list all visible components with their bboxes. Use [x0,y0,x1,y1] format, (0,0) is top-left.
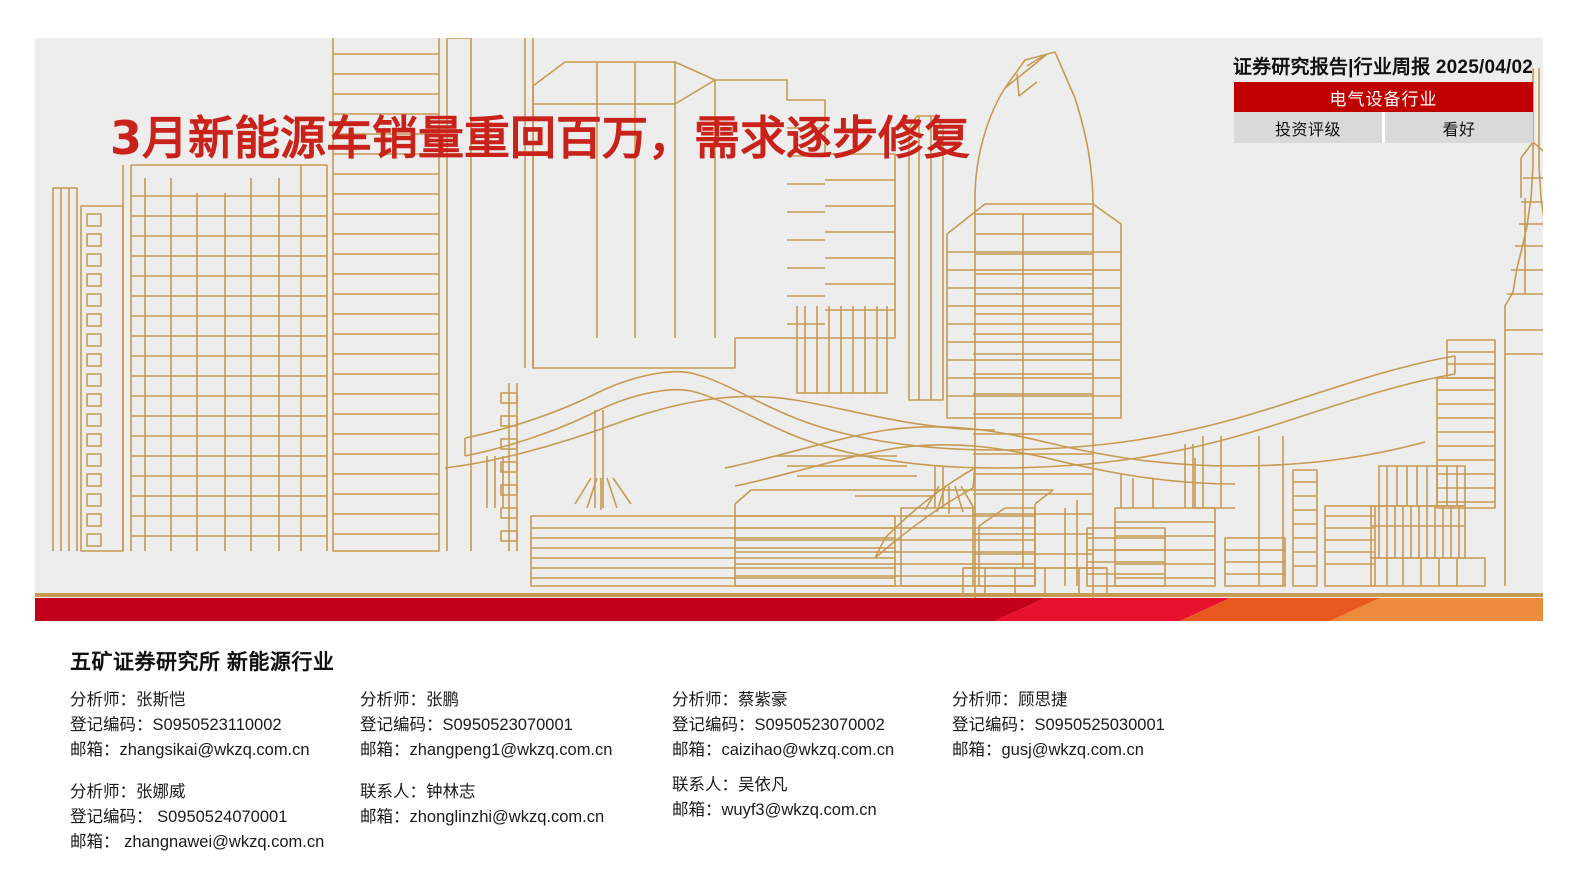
contact-person-email[interactable]: 邮箱：zhonglinzhi@wkzq.com.cn [360,805,604,830]
band-segment-1 [35,598,1045,621]
report-header-line: 证券研究报告|行业周报 2025/04/02 [1233,52,1533,79]
analyst-license: 登记编码： S0950524070001 [70,805,324,830]
contact-person-email[interactable]: 邮箱：wuyf3@wkzq.com.cn [672,798,877,823]
industry-badge: 电气设备行业 [1234,82,1533,112]
contact-person-name: 联系人：钟林志 [360,780,604,805]
rating-table-head-row: 电气设备行业 [1234,82,1533,112]
analyst-name: 分析师：蔡紫豪 [672,688,894,713]
institute-title: 五矿证券研究所 新能源行业 [70,646,334,676]
accent-color-band [35,598,1543,621]
page-title: 3月新能源车销量重回百万，需求逐步修复 [110,102,970,168]
analyst-email[interactable]: 邮箱：zhangpeng1@wkzq.com.cn [360,738,612,763]
analyst-name: 分析师：顾思捷 [952,688,1165,713]
analyst-email[interactable]: 邮箱：zhangsikai@wkzq.com.cn [70,738,310,763]
analyst-column-3-row-1: 分析师：蔡紫豪 登记编码：S0950523070002 邮箱：caizihao@… [672,688,894,763]
analyst-column-2-row-1: 分析师：张鹏 登记编码：S0950523070001 邮箱：zhangpeng1… [360,688,612,763]
analyst-license: 登记编码：S0950523070002 [672,713,894,738]
rating-table-value-row: 投资评级 看好 [1234,112,1533,143]
analyst-license: 登记编码：S0950525030001 [952,713,1165,738]
analyst-column-2-row-2: 联系人：钟林志 邮箱：zhonglinzhi@wkzq.com.cn [360,780,604,830]
contact-section: 五矿证券研究所 新能源行业 分析师：张斯恺 登记编码：S095052311000… [0,640,1583,890]
report-cover-page: 证券研究报告|行业周报 2025/04/02 电气设备行业 投资评级 看好 3月… [0,0,1583,890]
rating-value: 看好 [1384,112,1534,143]
analyst-name: 分析师：张斯恺 [70,688,310,713]
contact-person-name: 联系人：吴依凡 [672,773,877,798]
analyst-name: 分析师：张鹏 [360,688,612,713]
analyst-name: 分析师：张娜威 [70,780,324,805]
investment-rating-table: 电气设备行业 投资评级 看好 [1234,82,1533,143]
analyst-license: 登记编码：S0950523110002 [70,713,310,738]
analyst-column-1-row-2: 分析师：张娜威 登记编码： S0950524070001 邮箱： zhangna… [70,780,324,855]
analyst-email[interactable]: 邮箱：caizihao@wkzq.com.cn [672,738,894,763]
analyst-email[interactable]: 邮箱：gusj@wkzq.com.cn [952,738,1165,763]
analyst-column-4-row-1: 分析师：顾思捷 登记编码：S0950525030001 邮箱：gusj@wkzq… [952,688,1165,763]
analyst-license: 登记编码：S0950523070001 [360,713,612,738]
analyst-column-1-row-1: 分析师：张斯恺 登记编码：S0950523110002 邮箱：zhangsika… [70,688,310,763]
rating-label: 投资评级 [1234,112,1384,143]
analyst-email[interactable]: 邮箱： zhangnawei@wkzq.com.cn [70,830,324,855]
analyst-column-3-row-2: 联系人：吴依凡 邮箱：wuyf3@wkzq.com.cn [672,773,877,823]
